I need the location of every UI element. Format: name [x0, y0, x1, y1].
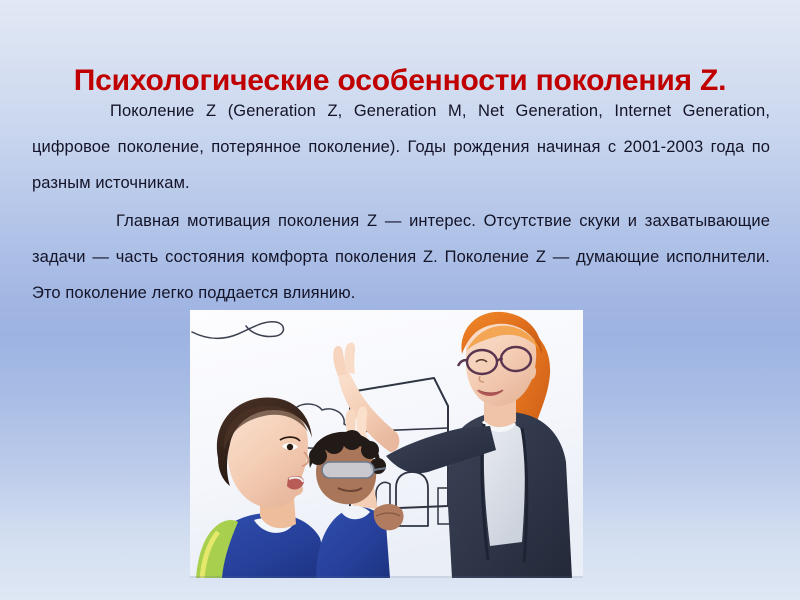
body-paragraph-2: Главная мотивация поколения Z — интерес.… — [32, 203, 770, 311]
slide-body-text: Поколение Z (Generation Z, Generation M,… — [32, 93, 770, 311]
photo-illustration — [190, 310, 583, 578]
photo-artwork — [190, 310, 583, 578]
body-paragraph-1: Поколение Z (Generation Z, Generation M,… — [32, 93, 770, 201]
presentation-slide: Психологические особенности поколения Z.… — [0, 0, 800, 600]
slide-photo — [190, 310, 583, 578]
